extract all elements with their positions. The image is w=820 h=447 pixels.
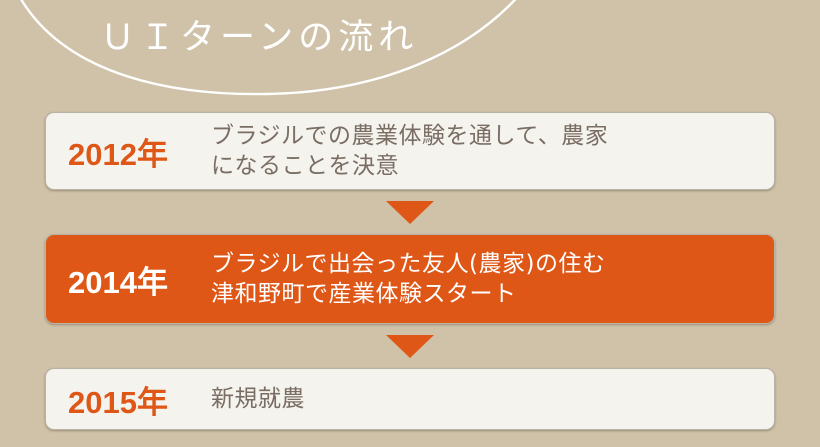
timeline: 2012年 ブラジルでの農業体験を通して、農家 になることを決意 2014年 ブ…	[0, 105, 820, 430]
connector-arrow-1	[0, 190, 820, 234]
year-label-2014: 2014年	[46, 257, 211, 302]
description-line: 新規就農	[211, 384, 760, 414]
triangle-down-icon	[386, 201, 434, 224]
description-2012: ブラジルでの農業体験を通して、農家 になることを決意	[211, 121, 774, 181]
description-line: 津和野町で産業体験スタート	[211, 279, 760, 309]
timeline-row-2012[interactable]: 2012年 ブラジルでの農業体験を通して、農家 になることを決意	[45, 112, 775, 190]
description-2014: ブラジルで出会った友人(農家)の住む 津和野町で産業体験スタート	[211, 249, 774, 309]
spacer	[0, 105, 820, 112]
description-line: ブラジルで出会った友人(農家)の住む	[211, 249, 760, 279]
triangle-down-icon	[386, 335, 434, 358]
page-title: ＵＩターンの流れ	[100, 16, 418, 60]
year-label-2012: 2012年	[46, 129, 211, 174]
header: ＵＩターンの流れ	[0, 0, 820, 105]
description-2015: 新規就農	[211, 384, 774, 414]
description-line: ブラジルでの農業体験を通して、農家	[211, 121, 760, 151]
description-line: になることを決意	[211, 151, 760, 181]
timeline-row-2014[interactable]: 2014年 ブラジルで出会った友人(農家)の住む 津和野町で産業体験スタート	[45, 234, 775, 324]
connector-arrow-2	[0, 324, 820, 368]
timeline-row-2015[interactable]: 2015年 新規就農	[45, 368, 775, 430]
year-label-2015: 2015年	[46, 377, 211, 422]
